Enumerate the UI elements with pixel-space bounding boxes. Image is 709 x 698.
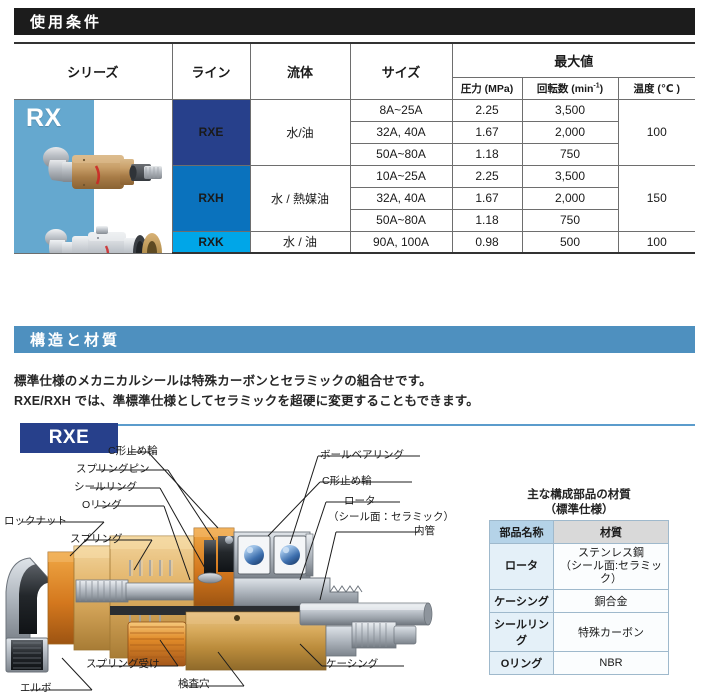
callout-c-ring-left: C形止め輪 [108, 443, 158, 458]
callout-spring: スプリング [70, 531, 123, 546]
pressure-value: 1.67 [452, 187, 522, 209]
rpm-value: 3,500 [522, 99, 618, 121]
fluid-rxh: 水 / 熱媒油 [250, 165, 350, 231]
size-value: 32A, 40A [350, 187, 452, 209]
materials-table-title: 主な構成部品の材質 （標準仕様） [489, 488, 669, 518]
callout-elbow: エルボ [20, 680, 52, 695]
col-header-part-name: 部品名称 [490, 521, 554, 544]
section-header-structure-materials: 構造と材質 [14, 326, 695, 353]
section-title-structure-materials: 構造と材質 [30, 329, 120, 350]
materials-title-line-1: 主な構成部品の材質 [489, 488, 669, 503]
pressure-value: 1.67 [452, 121, 522, 143]
pressure-value: 1.18 [452, 143, 522, 165]
table-row: Oリング NBR [490, 652, 669, 675]
rpm-value: 3,500 [522, 165, 618, 187]
spec-table-container: シリーズ ライン 流体 サイズ 最大値 圧力 (MPa) 回転数 (min-1)… [14, 42, 695, 254]
line-badge-rxe: RXE [172, 99, 250, 165]
callout-seal-ring: シールリング [74, 479, 137, 494]
fluid-rxk: 水 / 油 [250, 231, 350, 253]
materials-table-container: 部品名称 材質 ロータ ステンレス鋼 （シール面:セラミック） ケーシング 銅合… [489, 520, 669, 675]
series-cell-rx: RX [14, 99, 172, 253]
part-name: ロータ [490, 544, 554, 590]
material-value: 特殊カーボン [554, 613, 669, 652]
size-value: 8A~25A [350, 99, 452, 121]
col-header-temperature: 温度 (℃ ) [618, 77, 695, 99]
rpm-label-pre: 回転数 (min [537, 83, 594, 95]
pressure-value: 0.98 [452, 231, 522, 253]
col-header-fluid: 流体 [250, 43, 350, 99]
body-paragraph-line-1: 標準仕様のメカニカルシールは特殊カーボンとセラミックの組合せです。 [14, 370, 432, 389]
spec-table-body: RX [14, 99, 695, 253]
part-name: ケーシング [490, 590, 554, 613]
size-value: 90A, 100A [350, 231, 452, 253]
temperature-rxe: 100 [618, 99, 695, 165]
material-line-2: （シール面:セラミック） [556, 560, 666, 586]
callout-rotor-note: （シール面：セラミック） [328, 509, 454, 524]
materials-table: 部品名称 材質 ロータ ステンレス鋼 （シール面:セラミック） ケーシング 銅合… [489, 520, 669, 675]
product-photo-stainless-joint [36, 218, 168, 254]
table-row: シールリング 特殊カーボン [490, 613, 669, 652]
callout-casing: ケーシング [326, 656, 378, 671]
col-header-rpm: 回転数 (min-1) [522, 77, 618, 99]
rpm-label-post: ) [600, 83, 604, 95]
material-value: NBR [554, 652, 669, 675]
size-value: 50A~80A [350, 209, 452, 231]
rpm-value: 2,000 [522, 187, 618, 209]
size-value: 10A~25A [350, 165, 452, 187]
temperature-rxk: 100 [618, 231, 695, 253]
series-label-rx: RX [26, 104, 62, 133]
body-paragraph-line-2: RXE/RXH では、準標準仕様としてセラミックを超硬に変更することもできます。 [14, 390, 479, 409]
rpm-value: 750 [522, 209, 618, 231]
line-badge-rxh: RXH [172, 165, 250, 231]
part-name: シールリング [490, 613, 554, 652]
spec-table-head: シリーズ ライン 流体 サイズ 最大値 圧力 (MPa) 回転数 (min-1)… [14, 43, 695, 99]
materials-table-head: 部品名称 材質 [490, 521, 669, 544]
callout-c-ring-right: C形止め輪 [322, 473, 372, 488]
material-line-1: ステンレス鋼 [556, 547, 666, 560]
col-header-max-group: 最大値 [452, 43, 695, 77]
col-header-pressure: 圧力 (MPa) [452, 77, 522, 99]
line-badge-rxk: RXK [172, 231, 250, 253]
table-row: ケーシング 銅合金 [490, 590, 669, 613]
callout-inspection-hole: 検査穴 [178, 676, 210, 691]
pressure-value: 2.25 [452, 99, 522, 121]
callout-lock-nut: ロックナット [4, 513, 67, 528]
material-value: ステンレス鋼 （シール面:セラミック） [554, 544, 669, 590]
callout-rotor: ロータ [344, 493, 376, 508]
temperature-rxh: 150 [618, 165, 695, 231]
rpm-value: 500 [522, 231, 618, 253]
callout-ball-bearing: ボールベアリング [320, 447, 404, 462]
materials-table-body: ロータ ステンレス鋼 （シール面:セラミック） ケーシング 銅合金 シールリング… [490, 544, 669, 675]
materials-title-line-2: （標準仕様） [489, 503, 669, 518]
rpm-value: 750 [522, 143, 618, 165]
section-header-usage-conditions: 使用条件 [14, 8, 695, 35]
rpm-value: 2,000 [522, 121, 618, 143]
spec-header-row-1: シリーズ ライン 流体 サイズ 最大値 [14, 43, 695, 77]
document-page: 使用条件 シリーズ ライン 流体 サイズ 最大値 圧力 (MPa) 回転数 (m… [0, 0, 709, 698]
size-value: 50A~80A [350, 143, 452, 165]
part-name: Oリング [490, 652, 554, 675]
size-value: 32A, 40A [350, 121, 452, 143]
fluid-rxe: 水/油 [250, 99, 350, 165]
callout-o-ring: Oリング [82, 497, 122, 512]
callout-inner-pipe: 内管 [414, 523, 435, 538]
col-header-material: 材質 [554, 521, 669, 544]
col-header-size: サイズ [350, 43, 452, 99]
usage-conditions-table: シリーズ ライン 流体 サイズ 最大値 圧力 (MPa) 回転数 (min-1)… [14, 42, 695, 254]
rxe-cutaway-diagram: C形止め輪 スプリングピン シールリング Oリング ロックナット スプリング ボ… [0, 440, 470, 698]
product-photo-brass-joint [32, 142, 164, 210]
materials-header-row: 部品名称 材質 [490, 521, 669, 544]
table-row: ロータ ステンレス鋼 （シール面:セラミック） [490, 544, 669, 590]
table-row: RX [14, 99, 695, 121]
callout-spring-seat: スプリング受け [86, 656, 160, 671]
col-header-series: シリーズ [14, 43, 172, 99]
col-header-line: ライン [172, 43, 250, 99]
pressure-value: 1.18 [452, 209, 522, 231]
diagram-header-rule [118, 424, 695, 426]
material-value: 銅合金 [554, 590, 669, 613]
section-title-usage-conditions: 使用条件 [30, 11, 102, 32]
callout-spring-pin: スプリングピン [76, 461, 150, 476]
pressure-value: 2.25 [452, 165, 522, 187]
